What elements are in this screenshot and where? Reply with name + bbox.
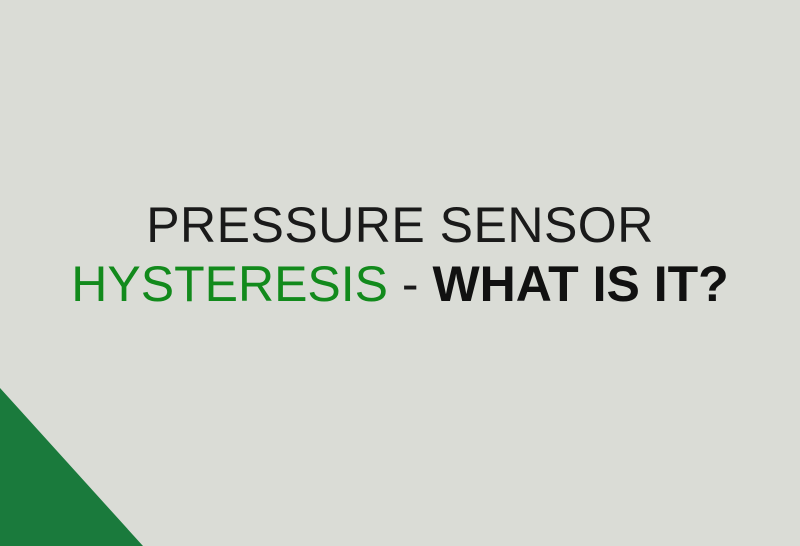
title-dash — [388, 256, 402, 312]
title-question-text: WHAT IS IT? — [432, 256, 728, 312]
title-banner: PRESSURE SENSOR HYSTERESIS - WHAT IS IT? — [0, 0, 800, 546]
page-title: PRESSURE SENSOR HYSTERESIS - WHAT IS IT? — [0, 196, 800, 314]
title-line-primary: PRESSURE SENSOR — [0, 196, 800, 255]
title-space — [419, 256, 433, 312]
corner-triangle-decoration — [0, 388, 143, 546]
title-accent-word: HYSTERESIS — [71, 256, 388, 312]
title-dash-glyph: - — [402, 256, 419, 312]
title-line-secondary: HYSTERESIS - WHAT IS IT? — [0, 255, 800, 314]
